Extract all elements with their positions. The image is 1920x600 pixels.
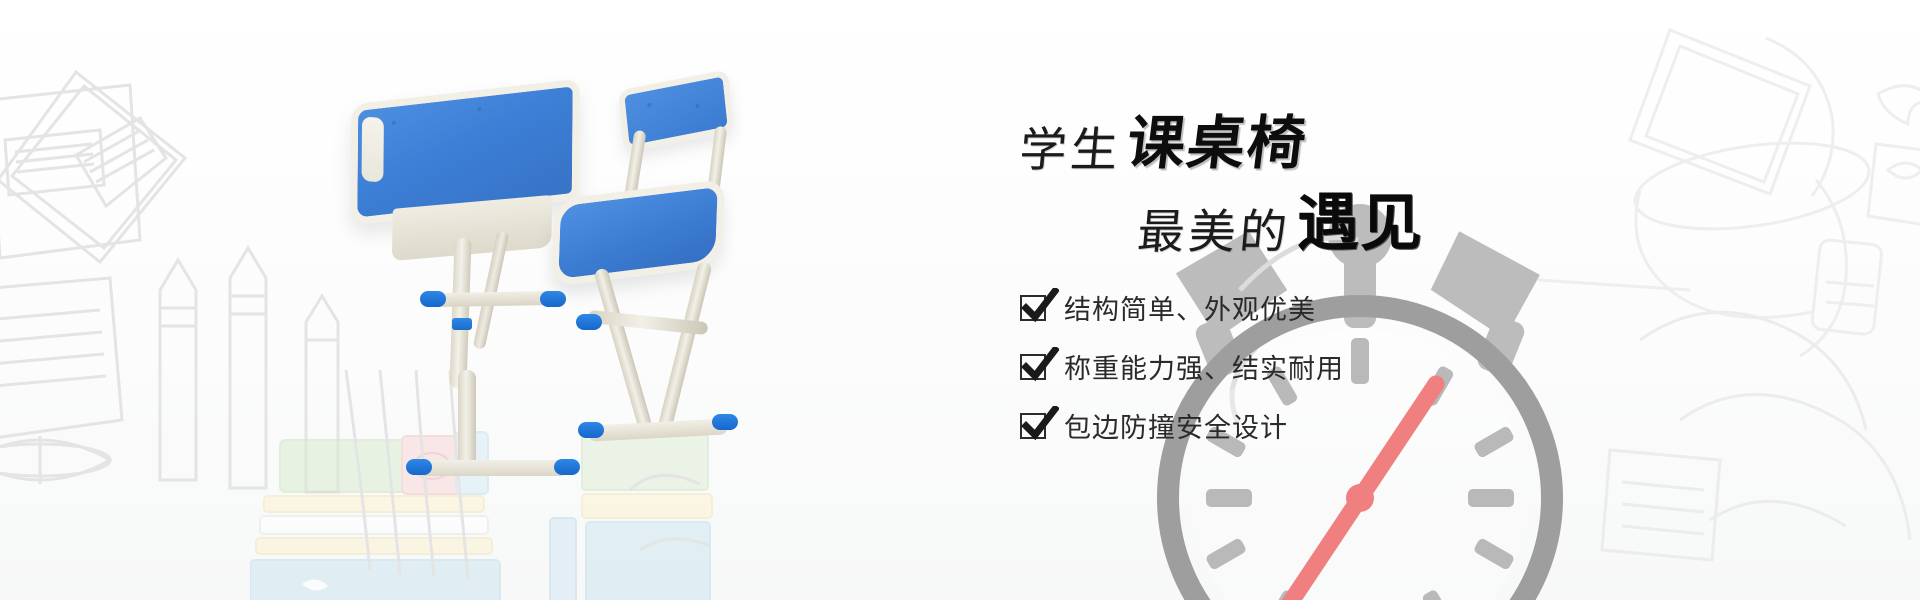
desk-post-ring <box>452 318 472 330</box>
feature-label: 包边防撞安全设计 <box>1064 406 1288 445</box>
desk-crossbar-cap-left <box>420 291 446 307</box>
product-photo-desk-and-chair <box>330 70 850 520</box>
desk-crossbar <box>430 291 558 307</box>
chair-foot-cap-left <box>578 422 604 438</box>
chair-leg-front <box>593 267 652 430</box>
headline-line2-emphasis: 遇见 <box>1297 172 1423 262</box>
headline-line2-prefix: 最美的 <box>1135 193 1294 262</box>
feature-label: 结构简单、外观优美 <box>1064 288 1316 327</box>
chair-foot-cap-right <box>712 414 738 430</box>
desk-crossbar-cap-right <box>540 291 566 307</box>
headline-line-2: 最美的 遇见 <box>1138 172 1423 262</box>
desk-foot-bar <box>418 460 568 476</box>
feature-item: 称重能力强、结实耐用 <box>1020 347 1540 386</box>
open-book-doodle <box>1600 300 1920 600</box>
headline-line1-emphasis: 课桌椅 <box>1123 96 1313 180</box>
desk-post <box>449 238 471 389</box>
feature-item: 结构简单、外观优美 <box>1020 288 1540 327</box>
backpack-doodle <box>1520 0 1920 410</box>
desk-lower-post <box>458 370 476 470</box>
chair-brace-cap <box>576 314 602 330</box>
checkbox-checked-icon <box>1020 354 1046 380</box>
headline-line1-prefix: 学生 <box>1017 111 1125 180</box>
feature-label: 称重能力强、结实耐用 <box>1064 347 1344 386</box>
promo-banner: 学生 课桌椅 最美的 遇见 结构简单、外观优美 <box>0 0 1920 600</box>
headline-line-1: 学生 课桌椅 <box>1020 96 1308 180</box>
background-doodle-layer <box>0 0 1920 600</box>
desk-foot-cap-left <box>406 459 432 475</box>
desk-foot-cap-right <box>554 459 580 475</box>
checkbox-checked-icon <box>1020 413 1046 439</box>
copy-block: 学生 课桌椅 最美的 遇见 结构简单、外观优美 <box>1020 96 1540 465</box>
feature-list: 结构简单、外观优美 称重能力强、结实耐用 包边防撞安全设计 <box>1020 288 1540 445</box>
chair-leg-rear <box>657 261 712 431</box>
chair-foot-bar <box>588 418 729 441</box>
checkbox-checked-icon <box>1020 295 1046 321</box>
feature-item: 包边防撞安全设计 <box>1020 406 1540 445</box>
headline: 学生 课桌椅 最美的 遇见 <box>1020 96 1540 246</box>
